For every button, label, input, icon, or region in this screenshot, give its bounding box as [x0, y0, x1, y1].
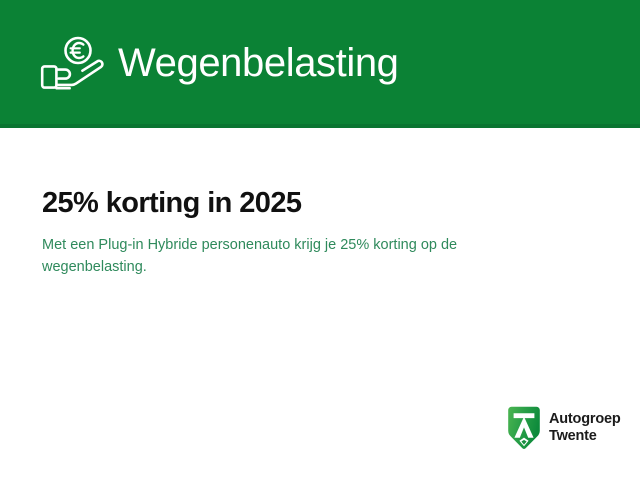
brand-wordmark-line-1: Autogroep: [549, 411, 621, 428]
brand-logo[interactable]: Autogroep Twente: [506, 406, 621, 450]
header-bottom-rule: [0, 124, 640, 128]
autogroep-twente-shield-icon: [506, 406, 542, 450]
brand-wordmark-line-2: Twente: [549, 428, 621, 445]
page-header: Wegenbelasting: [0, 0, 640, 128]
promo-headline: 25% korting in 2025: [42, 188, 582, 220]
hand-holding-euro-coin-icon: [40, 35, 118, 93]
promo-description: Met een Plug-in Hybride personenauto kri…: [42, 234, 542, 279]
brand-wordmark: Autogroep Twente: [549, 411, 621, 445]
main-content: 25% korting in 2025 Met een Plug-in Hybr…: [42, 188, 582, 279]
page-title: Wegenbelasting: [118, 43, 399, 83]
